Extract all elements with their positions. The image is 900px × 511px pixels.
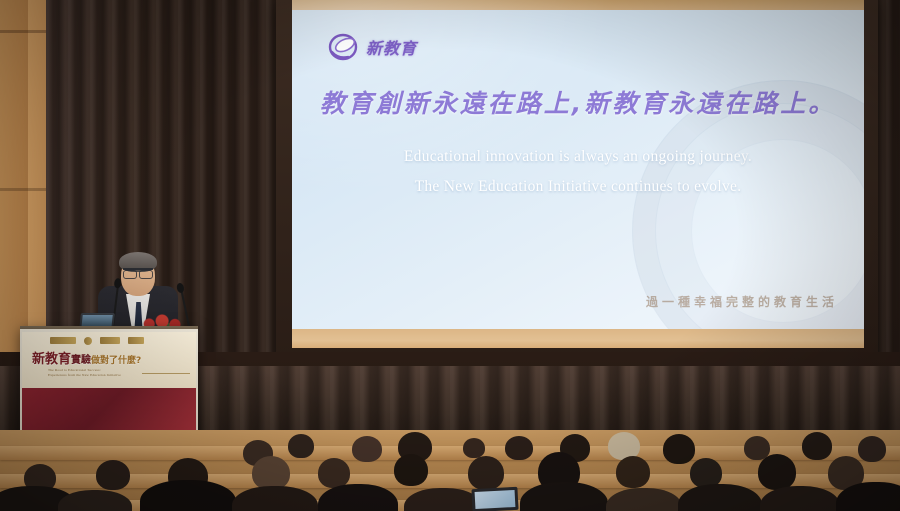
audience-head [288,434,314,458]
sponsor-logo-2 [84,337,92,345]
audience-head [252,456,290,490]
audience-silhouette [58,490,132,511]
audience-head [802,432,832,460]
slide-headline: 教育創新永遠在路上,新教育永遠在路上。 [292,84,864,120]
slide-english-line-1: Educational innovation is always an ongo… [292,148,864,166]
speaker-glasses-icon [123,268,153,278]
audience-silhouette [404,488,482,511]
tablet-screen [475,490,516,509]
audience-head [758,454,796,490]
audience-head [468,456,504,490]
slide-bottom-band [292,329,864,348]
projection-screen: 新教育 教育創新永遠在路上,新教育永遠在路上。 Educational inno… [292,0,864,348]
audience-head [96,460,130,490]
slide-english-line-2: The New Education Initiative continues t… [292,178,864,196]
event-banner: 新教育實驗做對了什麼? The Road to Educational Succ… [22,332,196,444]
laptop-screen [82,315,113,326]
banner-subtitle: The Road to Educational Success: Experie… [48,368,121,378]
audience-silhouette [318,484,398,511]
audience-head [318,458,350,488]
audience-tablet [471,487,518,511]
banner-sponsor-logos [50,336,170,345]
sponsor-logo-4 [128,337,144,344]
sponsor-logo-3 [100,337,120,344]
auditorium-photo: 新教育 教育創新永遠在路上,新教育永遠在路上。 Educational inno… [0,0,900,511]
swoosh-ellipse-logo-icon [328,32,360,62]
audience-head [858,436,886,462]
audience-silhouette [760,486,840,511]
audience-area [0,430,900,511]
slide-footnote: 過一種幸福完整的教育生活 [646,293,838,310]
audience-head [663,434,695,464]
audience-silhouette [678,484,762,511]
audience-head [505,436,533,460]
slide-logo-text: 新教育 [366,35,417,59]
banner-title-mid: 實驗 [71,355,91,366]
banner-title-main: 新教育 [32,352,71,367]
banner-upper-panel: 新教育實驗做對了什麼? The Road to Educational Succ… [22,332,196,388]
audience-head [352,436,382,462]
audience-head [463,438,485,458]
audience-head [616,456,650,488]
banner-title-tail: 做對了什麼? [91,356,141,366]
audience-head [394,454,428,486]
banner-title: 新教育實驗做對了什麼? [32,348,141,367]
podium-surface [20,326,198,329]
audience-silhouette [232,486,318,511]
slide-logo: 新教育 [328,32,417,62]
banner-subtitle-line-2: Experiences from the New Education Initi… [48,373,121,378]
podium: 新教育實驗做對了什麼? The Road to Educational Succ… [20,326,198,444]
sponsor-logo-1 [50,337,76,344]
audience-silhouette [606,488,682,511]
audience-silhouette [140,480,236,511]
banner-divider [142,373,190,374]
